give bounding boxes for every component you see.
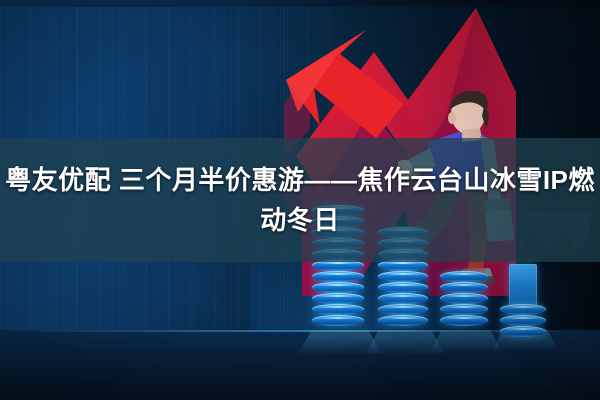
title-line-1: 粤友优配 三个月半价惠游——焦作云台山冰雪IP燃	[5, 160, 595, 200]
banner-title: 粤友优配 三个月半价惠游——焦作云台山冰雪IP燃 动冬日	[0, 138, 600, 262]
promo-banner: 粤友优配 三个月半价惠游——焦作云台山冰雪IP燃 动冬日	[0, 0, 600, 400]
title-line-2: 动冬日	[260, 200, 340, 240]
